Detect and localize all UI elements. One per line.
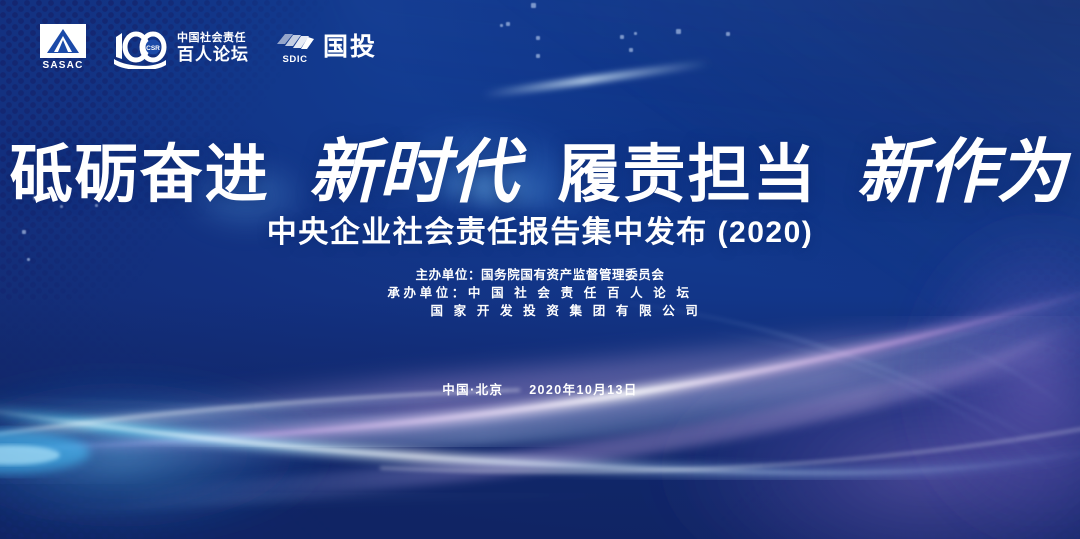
headline-part-1: 砥砺奋进 (10, 140, 270, 210)
sparkle-7 (629, 48, 633, 52)
sdic-name-cn: 国投 (323, 35, 377, 60)
organizer-line-cohost-2: 国 家 开 发 投 资 集 团 有 限 公 司 (0, 302, 1080, 320)
subtitle: 中央企业社会责任报告集中发布 (2020) (0, 207, 1080, 251)
csr-100-icon: CSR (112, 27, 168, 69)
csr-name-line2: 百人论坛 (177, 46, 249, 64)
event-place-date: 中国·北京 2020年10月13日 (0, 379, 1080, 398)
sdic-waves-icon: SDIC (275, 30, 315, 65)
logo-bar: SASAC CSR 中国社会责任 百人论坛 (40, 24, 377, 71)
headline: 砥砺奋进 新时代 履责担当 新作为 (0, 116, 1080, 217)
organizer-line-cohost-1: 承办单位：中 国 社 会 责 任 百 人 论 坛 (0, 284, 1080, 302)
event-backdrop-canvas: SASAC CSR 中国社会责任 百人论坛 (0, 0, 1080, 539)
sparkle-9 (536, 54, 540, 58)
event-date: 2020年10月13日 (529, 383, 638, 397)
sparkle-0 (531, 3, 536, 8)
sparkle-5 (500, 24, 503, 27)
sparkle-3 (620, 35, 624, 39)
organizer-line-host: 主办单位：国务院国有资产监督管理委员会 (0, 266, 1080, 284)
sdic-abbr: SDIC (282, 54, 307, 65)
csr-forum-name: 中国社会责任 百人论坛 (177, 32, 249, 64)
sasac-triangle-icon (40, 24, 86, 58)
headline-part-4: 新作为 (852, 135, 1070, 212)
sparkle-4 (634, 32, 637, 35)
csr-name-line1: 中国社会责任 (177, 32, 249, 44)
headline-part-2: 新时代 (305, 135, 523, 212)
sparkle-2 (536, 36, 540, 40)
logo-sdic[interactable]: SDIC 国投 (275, 30, 377, 65)
sparkle-6 (676, 29, 681, 34)
event-location: 中国·北京 (442, 383, 503, 397)
logo-sasac[interactable]: SASAC (40, 24, 86, 71)
sparkle-13 (27, 258, 30, 261)
logo-csr-forum[interactable]: CSR 中国社会责任 百人论坛 (112, 27, 249, 69)
sparkle-1 (506, 22, 510, 26)
svg-text:CSR: CSR (146, 45, 160, 52)
sasac-abbr: SASAC (42, 60, 83, 71)
headline-part-3: 履责担当 (557, 140, 817, 210)
sparkle-8 (726, 32, 730, 36)
organizer-block: 主办单位：国务院国有资产监督管理委员会 承办单位：中 国 社 会 责 任 百 人… (0, 266, 1080, 320)
